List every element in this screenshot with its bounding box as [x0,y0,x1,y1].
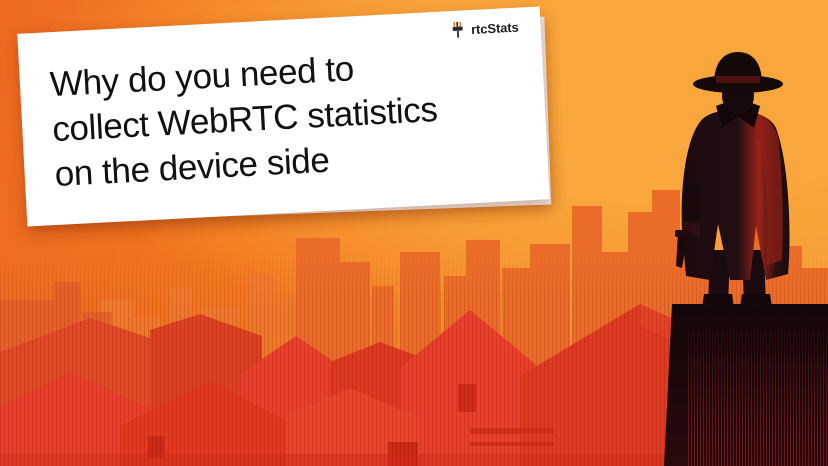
cowboy-silhouette-with-revolver [638,36,828,466]
title-card: rtcStats Why do you need to collect WebR… [17,6,549,226]
page-title: Why do you need to collect WebRTC statis… [49,38,522,198]
slide-canvas: rtcStats Why do you need to collect WebR… [0,0,828,466]
brand-logo: rtcStats [452,19,519,38]
brand-name: rtcStats [471,20,519,35]
rtcstats-torch-icon [452,21,467,38]
